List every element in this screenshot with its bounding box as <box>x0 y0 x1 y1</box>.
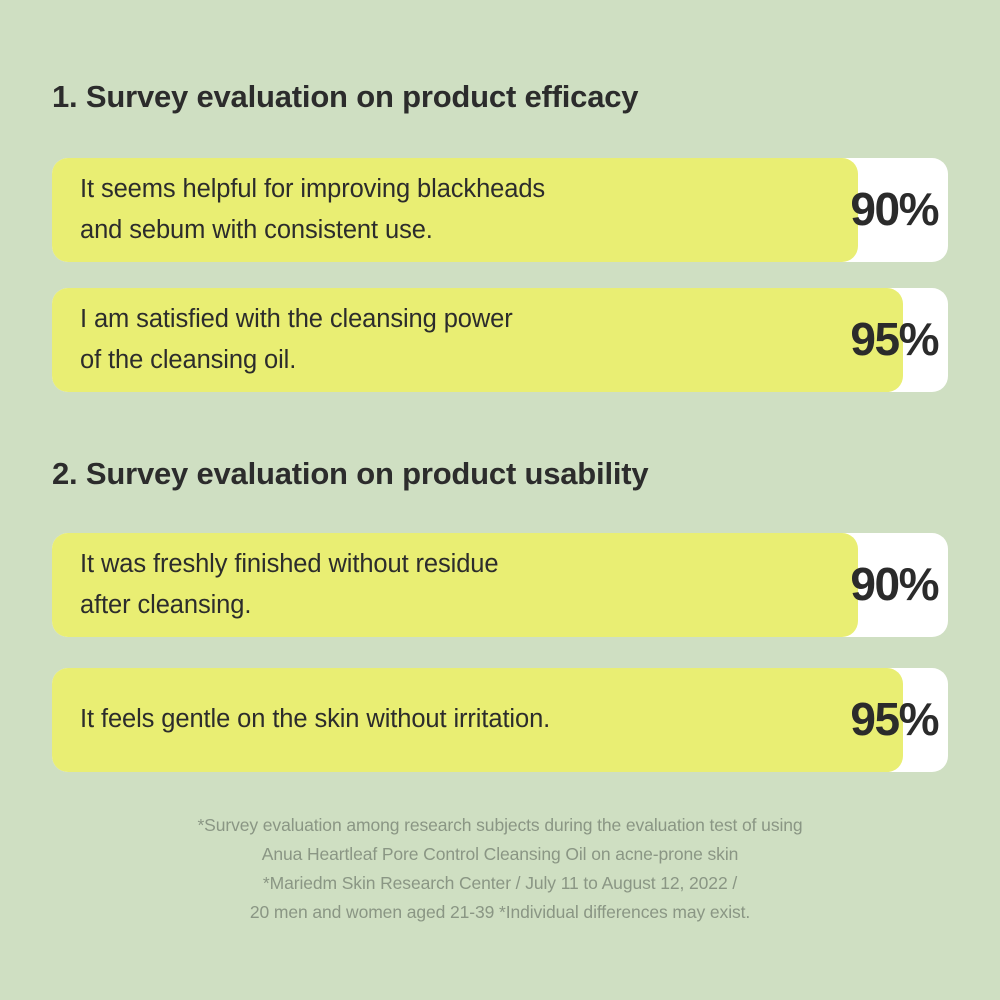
infographic-page: 1. Survey evaluation on product efficacy… <box>0 0 1000 1000</box>
bar-track: It was freshly finished without residue … <box>52 533 948 637</box>
bar-label: It seems helpful for improving blackhead… <box>80 169 850 252</box>
footnote-line: Anua Heartleaf Pore Control Cleansing Oi… <box>0 840 1000 869</box>
section-heading-usability: 2. Survey evaluation on product usabilit… <box>52 456 648 492</box>
bar-content: It feels gentle on the skin without irri… <box>52 668 948 772</box>
bar-value: 90% <box>850 561 938 609</box>
footnote-block: *Survey evaluation among research subjec… <box>0 811 1000 927</box>
survey-bar-row: It seems helpful for improving blackhead… <box>52 158 948 262</box>
bar-content: It seems helpful for improving blackhead… <box>52 158 948 262</box>
survey-bar-row: I am satisfied with the cleansing power … <box>52 288 948 392</box>
bar-value: 95% <box>850 316 938 364</box>
bar-content: I am satisfied with the cleansing power … <box>52 288 948 392</box>
bar-label: I am satisfied with the cleansing power … <box>80 299 850 382</box>
bar-track: I am satisfied with the cleansing power … <box>52 288 948 392</box>
bar-track: It feels gentle on the skin without irri… <box>52 668 948 772</box>
bar-value: 95% <box>850 696 938 744</box>
bar-label: It was freshly finished without residue … <box>80 544 850 627</box>
footnote-line: *Survey evaluation among research subjec… <box>0 811 1000 840</box>
footnote-line: *Mariedm Skin Research Center / July 11 … <box>0 869 1000 898</box>
footnote-line: 20 men and women aged 21-39 *Individual … <box>0 898 1000 927</box>
section-heading-efficacy: 1. Survey evaluation on product efficacy <box>52 79 638 115</box>
bar-content: It was freshly finished without residue … <box>52 533 948 637</box>
bar-track: It seems helpful for improving blackhead… <box>52 158 948 262</box>
survey-bar-row: It feels gentle on the skin without irri… <box>52 668 948 772</box>
survey-bar-row: It was freshly finished without residue … <box>52 533 948 637</box>
bar-label: It feels gentle on the skin without irri… <box>80 699 850 740</box>
bar-value: 90% <box>850 186 938 234</box>
